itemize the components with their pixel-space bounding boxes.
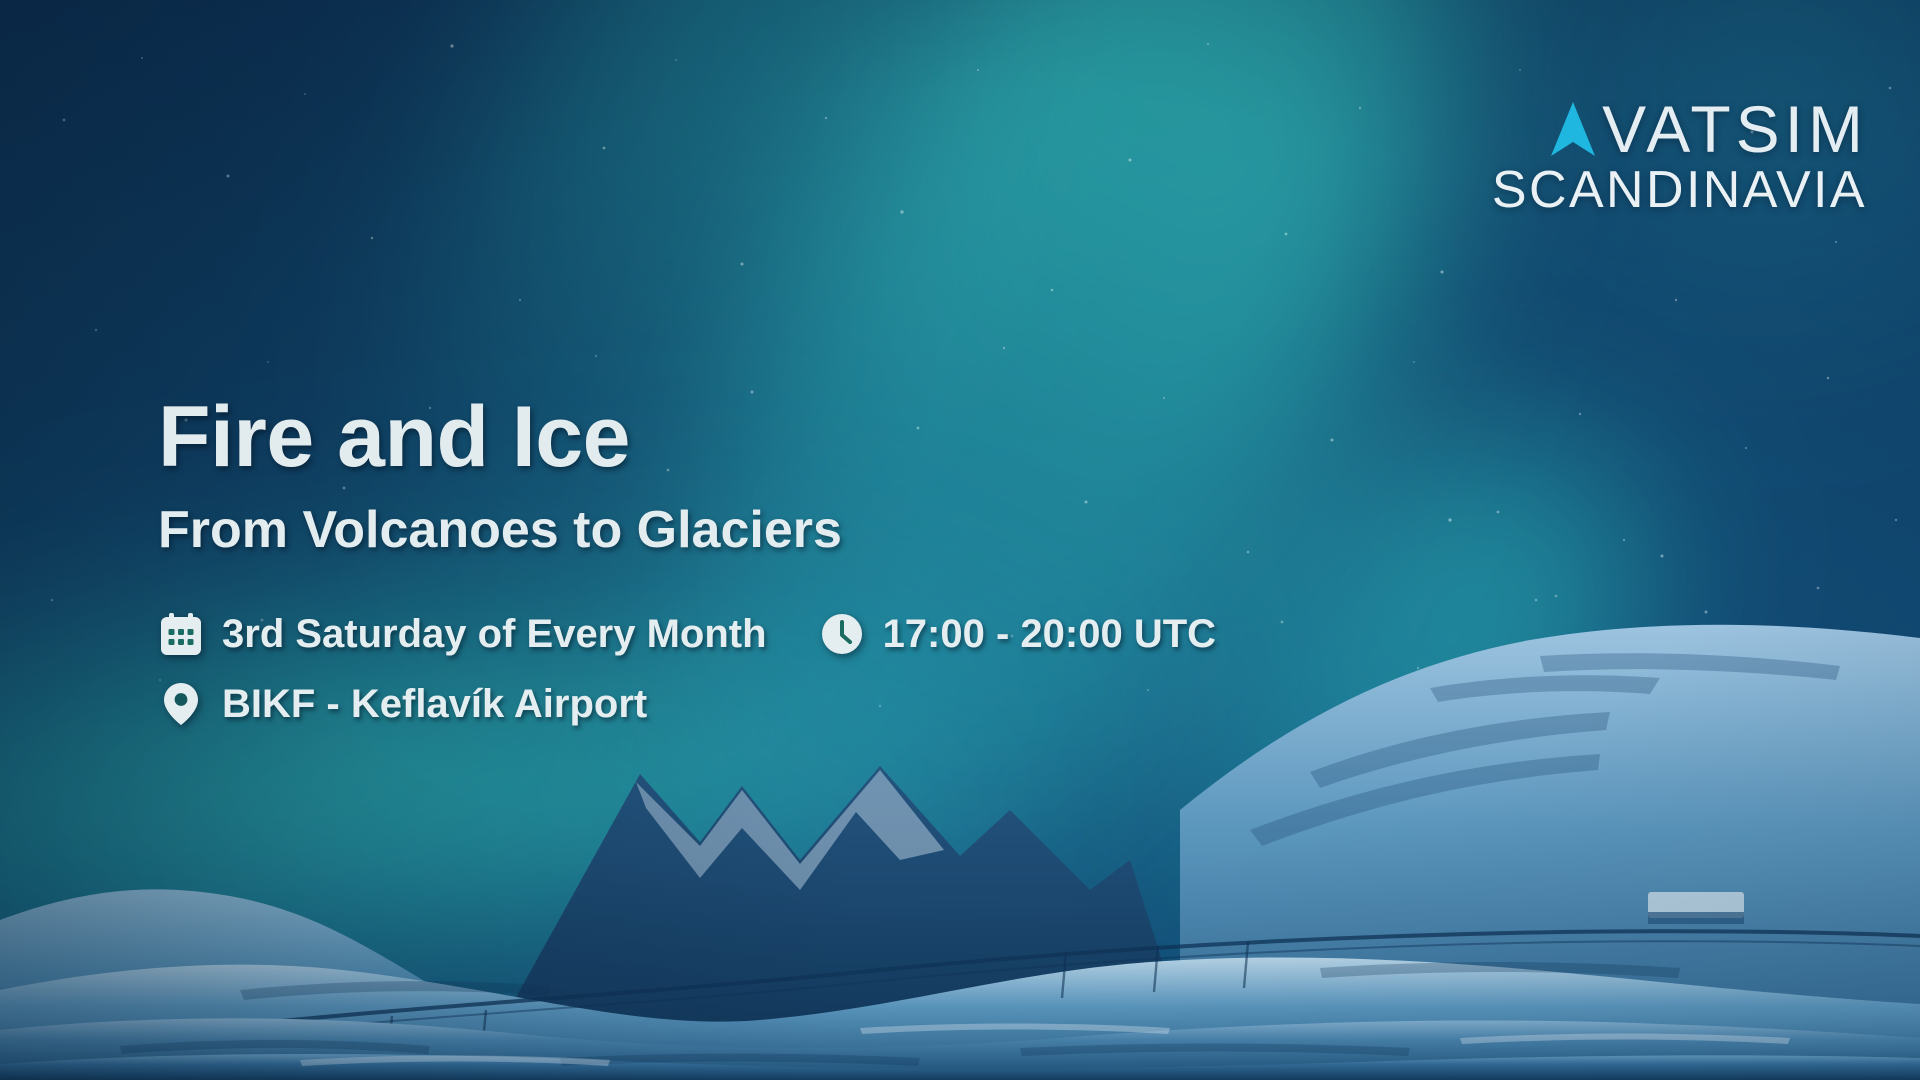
calendar-icon — [158, 611, 204, 657]
vatsim-scandinavia-logo: VATSIM SCANDINAVIA — [1492, 96, 1868, 216]
event-details: 3rd Saturday of Every Month 17:00 - 20:0… — [158, 611, 1338, 727]
event-content: Fire and Ice From Volcanoes to Glaciers — [158, 392, 1338, 727]
event-subtitle: From Volcanoes to Glaciers — [158, 501, 1338, 559]
clock-icon — [819, 611, 865, 657]
event-detail-venue: BIKF - Keflavík Airport — [158, 681, 647, 727]
event-banner: VATSIM SCANDINAVIA Fire and Ice From Vol… — [0, 0, 1920, 1080]
logo-region-name: SCANDINAVIA — [1492, 164, 1867, 216]
event-detail-row-schedule: 3rd Saturday of Every Month 17:00 - 20:0… — [158, 611, 1338, 657]
logo-primary-row: VATSIM — [1550, 96, 1868, 162]
event-title: Fire and Ice — [158, 392, 1338, 483]
event-detail-date: 3rd Saturday of Every Month — [158, 611, 767, 657]
event-detail-time: 17:00 - 20:00 UTC — [819, 611, 1216, 657]
event-venue-label: BIKF - Keflavík Airport — [222, 682, 647, 727]
event-time-label: 17:00 - 20:00 UTC — [883, 612, 1216, 657]
logo-wordmark: VATSIM — [1602, 96, 1868, 162]
event-detail-row-location: BIKF - Keflavík Airport — [158, 681, 1338, 727]
vatsim-arrow-icon — [1550, 100, 1596, 158]
map-pin-icon — [158, 681, 204, 727]
event-date-label: 3rd Saturday of Every Month — [222, 612, 767, 657]
